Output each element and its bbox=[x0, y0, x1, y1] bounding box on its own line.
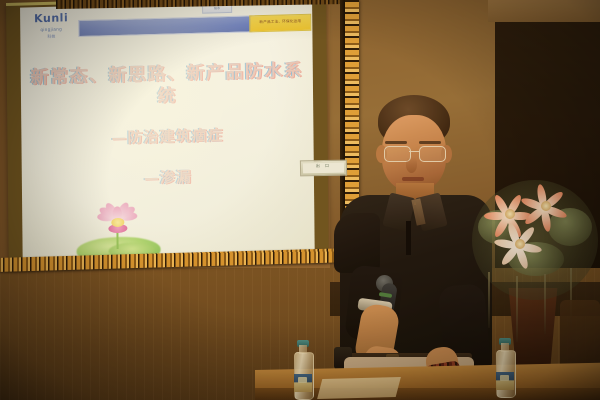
speaker-nose bbox=[406, 157, 417, 173]
eyeglass-lens-right bbox=[419, 146, 446, 162]
slide-title-line-1: 新常态、新思路、新产品防水系统 bbox=[21, 60, 313, 112]
hanging-sprig bbox=[488, 272, 490, 328]
bottle-label-mark bbox=[298, 377, 307, 383]
speaker-eyebrow-right bbox=[419, 141, 441, 144]
slide-header-bar bbox=[78, 15, 252, 37]
water-bottle-right bbox=[494, 338, 516, 396]
lily-bloom bbox=[500, 228, 544, 262]
presentation-slide: Kunli qingjiang 科技 防水 新产品工法、环保化运用 新常态、新思… bbox=[20, 0, 315, 264]
logo-subtext: qingjiang bbox=[30, 26, 72, 33]
lily-center bbox=[515, 239, 525, 249]
hanging-sprig bbox=[516, 276, 518, 342]
projection-screen: Kunli qingjiang 科技 防水 新产品工法、环保化运用 新常态、新思… bbox=[6, 0, 329, 269]
company-logo: Kunli qingjiang 科技 bbox=[30, 12, 72, 53]
polo-placket bbox=[406, 221, 411, 255]
speaker-mouth bbox=[402, 177, 424, 181]
logo-subtext-cn: 科技 bbox=[30, 33, 72, 39]
recess-lintel bbox=[488, 0, 600, 22]
bottle-label-mark bbox=[500, 375, 509, 381]
lily-center bbox=[541, 201, 551, 211]
speaker-eyebrow-left bbox=[385, 141, 407, 144]
paper-on-table bbox=[317, 377, 401, 399]
lily-bloom bbox=[526, 190, 570, 224]
logo-mark-text: Kunli bbox=[30, 12, 72, 24]
water-bottle-left bbox=[292, 340, 314, 398]
speaker-shoulder-left bbox=[334, 213, 380, 273]
slide-title-line-3: —渗漏 bbox=[22, 165, 314, 192]
lily-center bbox=[505, 209, 515, 219]
conference-room-photo: Kunli qingjiang 科技 防水 新产品工法、环保化运用 新常态、新思… bbox=[0, 0, 600, 400]
slide-header-yellow-text: 新产品工法、环保化运用 bbox=[251, 19, 309, 25]
slide-title-line-2: —防治建筑痼症 bbox=[21, 124, 313, 151]
hanging-sprig bbox=[544, 274, 546, 334]
slide-title-block: 新常态、新思路、新产品防水系统 —防治建筑痼症 —渗漏 bbox=[21, 60, 314, 192]
slide-header-yellow-banner: 新产品工法、环保化运用 bbox=[249, 14, 311, 33]
eyeglass-bridge bbox=[409, 151, 419, 152]
